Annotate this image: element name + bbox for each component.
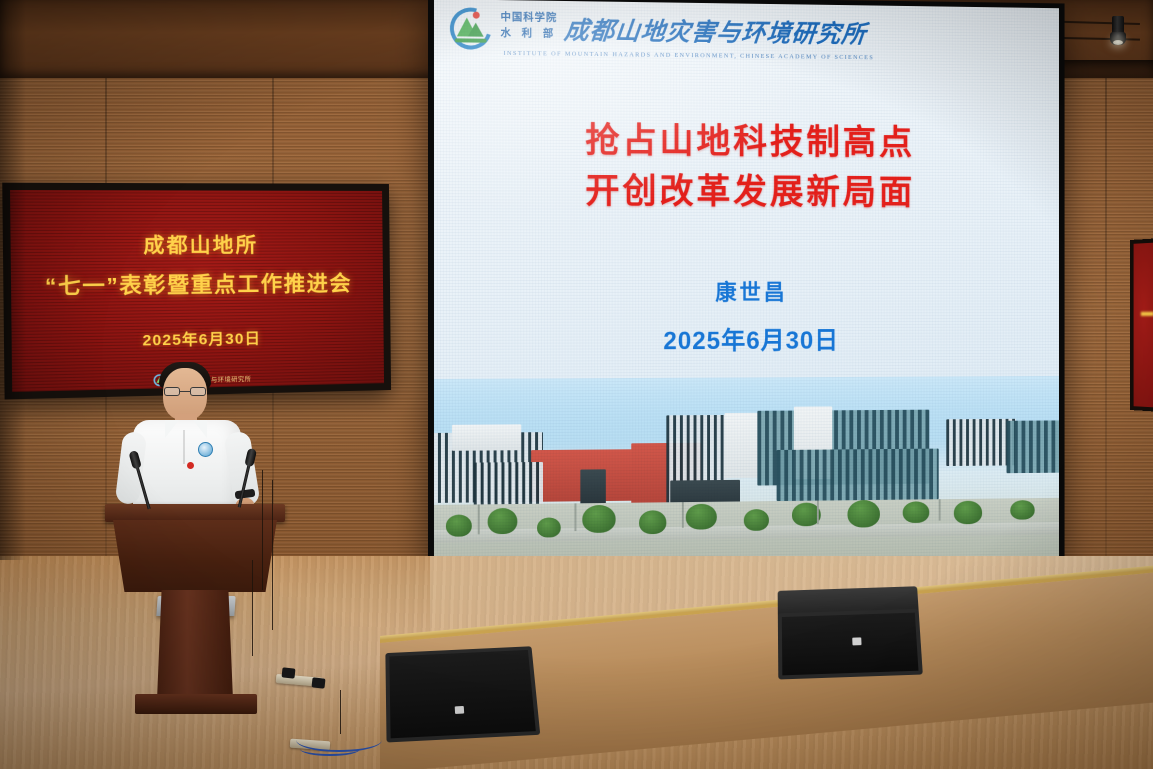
plug xyxy=(312,677,326,688)
slide-header: 中国科学院 水 利 部 成都山地灾害与环境研究所 xyxy=(448,5,866,56)
presentation-slide: 中国科学院 水 利 部 成都山地灾害与环境研究所 INSTITUTE OF MO… xyxy=(434,0,1059,569)
institute-name-cn: 成都山地灾害与环境研究所 xyxy=(562,7,868,50)
ceiling-spotlight xyxy=(1110,16,1126,46)
red-led-banner-right xyxy=(1130,237,1153,412)
banner-date: 2025年6月30日 xyxy=(142,327,261,351)
slide-title-line-2: 开创改革发展新局面 xyxy=(434,166,1059,219)
podium-cable xyxy=(272,480,299,630)
slide-title: 抢占山地科技制高点 开创改革发展新局面 xyxy=(434,115,1059,219)
conference-hall-scene: 成都山地所 “七一”表彰暨重点工作推进会 2025年6月30日 成都山地灾害与环… xyxy=(0,0,1153,769)
slide-author: 康世昌 xyxy=(434,275,1059,307)
plug xyxy=(282,667,296,678)
shirt-badge xyxy=(198,442,213,457)
blue-network-cable xyxy=(300,742,360,756)
stage-monitor-right xyxy=(778,586,923,679)
org-name-block: 中国科学院 水 利 部 xyxy=(501,6,558,41)
org-line-1: 中国科学院 xyxy=(501,9,558,25)
presentation-led-screen: 中国科学院 水 利 部 成都山地灾害与环境研究所 INSTITUTE OF MO… xyxy=(428,0,1065,574)
org-line-2: 水 利 部 xyxy=(501,25,558,41)
banner-line-1: 成都山地所 xyxy=(143,228,258,258)
slide-title-line-1: 抢占山地科技制高点 xyxy=(434,115,1059,170)
wall-seam xyxy=(1105,0,1107,560)
floor-cable xyxy=(340,690,385,734)
banner-line-2: “七一”表彰暨重点工作推进会 xyxy=(45,267,352,301)
lapel-pin xyxy=(187,462,194,469)
podium-cable xyxy=(252,560,271,656)
glasses-icon xyxy=(164,387,206,396)
stage-monitor-left xyxy=(385,646,540,742)
campus-photo xyxy=(434,376,1059,569)
mountain-institute-logo-icon xyxy=(448,5,494,51)
slide-date: 2025年6月30日 xyxy=(434,321,1059,358)
